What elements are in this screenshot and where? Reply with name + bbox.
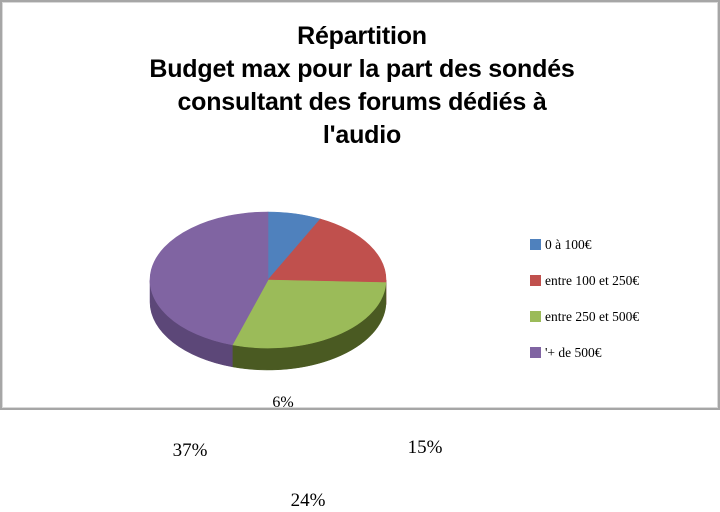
legend-item[interactable]: '+ de 500€ xyxy=(530,344,710,361)
legend-item[interactable]: 0 à 100€ xyxy=(530,236,710,253)
chart-title-line-3: consultant des forums dédiés à xyxy=(62,86,662,119)
chart-title: Répartition Budget max pour la part des … xyxy=(62,20,662,152)
chart-title-line-2: Budget max pour la part des sondés xyxy=(62,53,662,86)
pie-data-label-3: 37% xyxy=(162,440,218,462)
legend-item-label: entre 100 et 250€ xyxy=(545,272,639,289)
chart-title-line-1: Répartition xyxy=(62,20,662,53)
legend-swatch-icon xyxy=(530,275,541,286)
chart-title-line-4: l'audio xyxy=(62,119,662,152)
legend-item-label: '+ de 500€ xyxy=(545,344,602,361)
legend-item-label: entre 250 et 500€ xyxy=(545,308,639,325)
legend-swatch-icon xyxy=(530,311,541,322)
legend-item-label: 0 à 100€ xyxy=(545,236,592,253)
legend-item[interactable]: entre 250 et 500€ xyxy=(530,308,710,325)
pie-data-label-2: 24% xyxy=(280,490,336,512)
pie-plot-area: 6% 15% 24% 37% xyxy=(112,192,442,392)
chart-legend: 0 à 100€ entre 100 et 250€ entre 250 et … xyxy=(530,236,710,380)
legend-item[interactable]: entre 100 et 250€ xyxy=(530,272,710,289)
pie-data-label-0: 6% xyxy=(258,394,308,412)
chart-frame: Répartition Budget max pour la part des … xyxy=(0,0,720,410)
legend-swatch-icon xyxy=(530,347,541,358)
legend-swatch-icon xyxy=(530,239,541,250)
pie-data-label-1: 15% xyxy=(400,437,450,459)
pie-chart-graphic xyxy=(112,192,442,392)
